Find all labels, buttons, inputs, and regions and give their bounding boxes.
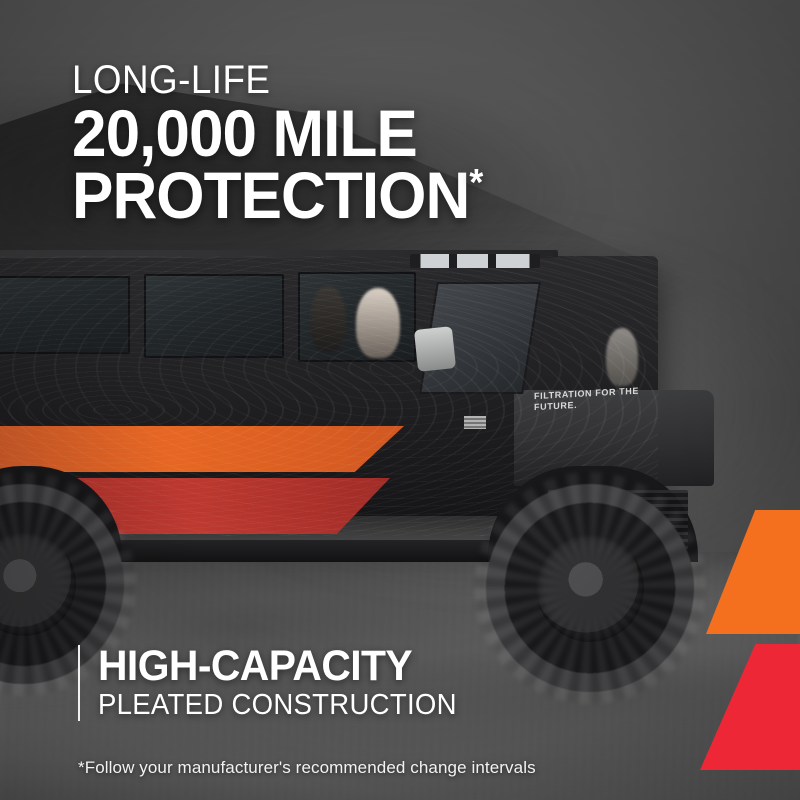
headline-line-1: 20,000 MILE [72,102,655,164]
footnote-text: *Follow your manufacturer's recommended … [78,758,718,778]
headline-line-2: PROTECTION* [72,164,655,226]
subhead-vertical-rule [78,645,80,721]
subhead-block: HIGH-CAPACITY PLEATED CONSTRUCTION [78,643,698,721]
subhead-main: HIGH-CAPACITY [98,643,668,689]
promo-banner: FILTRATION FOR THE FUTURE. K&N LONG-LIFE… [0,0,800,800]
headline-block: LONG-LIFE 20,000 MILE PROTECTION* [72,58,692,226]
subhead-secondary: PLEATED CONSTRUCTION [98,689,668,721]
headline-asterisk: * [469,162,482,204]
headline-line-2-text: PROTECTION [72,158,469,232]
